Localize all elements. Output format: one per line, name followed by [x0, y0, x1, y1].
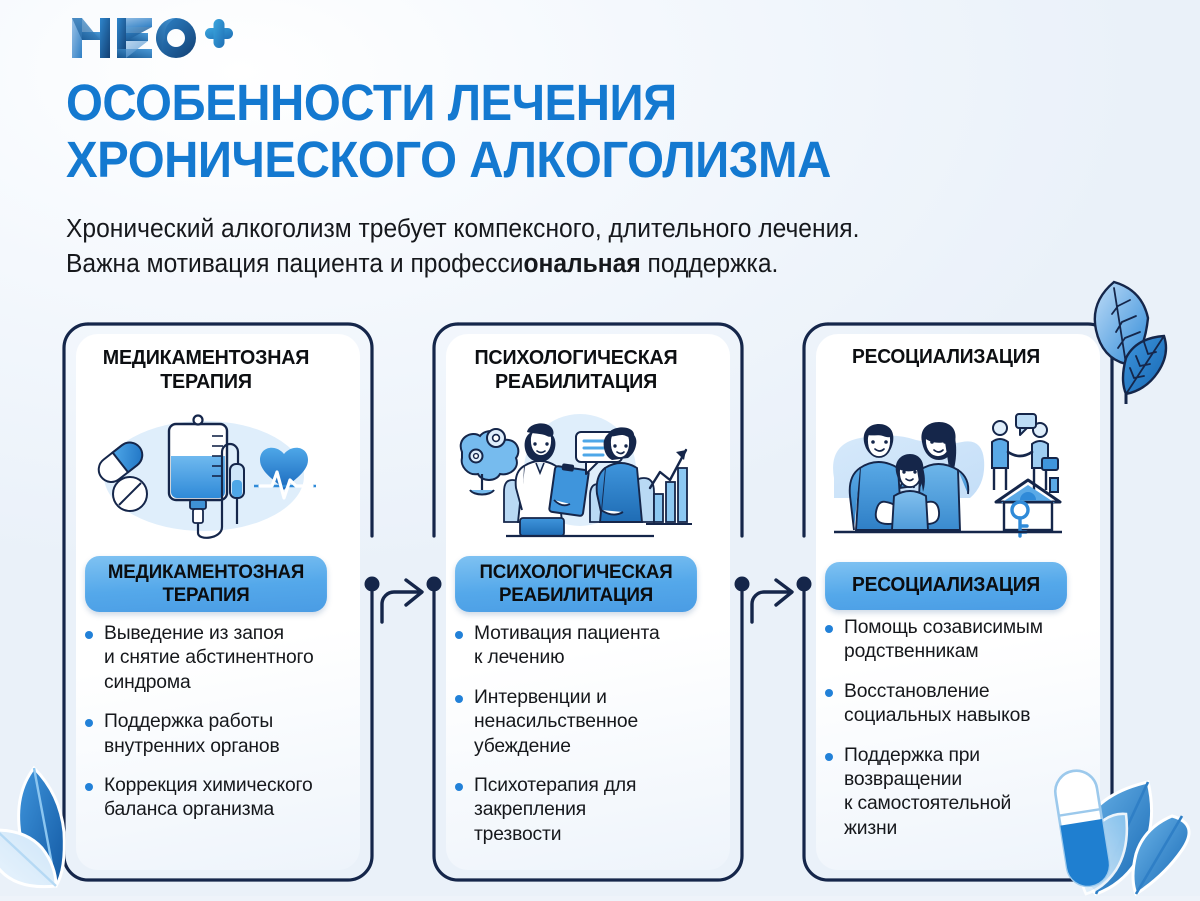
- page-title: ОСОБЕННОСТИ ЛЕЧЕНИЯ ХРОНИЧЕСКОГО АЛКОГОЛ…: [66, 74, 1080, 188]
- card-bullets-1: Выведение из запоя и снятие абстинентног…: [84, 622, 334, 823]
- bullet-text: Выведение из запоя и снятие абстинентног…: [104, 622, 334, 695]
- bullet-text: Коррекция химического баланса организма: [104, 774, 334, 823]
- list-item: Помощь созависимым родственникам: [824, 616, 1074, 665]
- page-subtitle: Хронический алкоголизм требует компексно…: [66, 212, 1099, 282]
- card-bullets-2: Мотивация пациента к лечению Интервенции…: [454, 622, 704, 847]
- bullet-text: Поддержка работы внутренних органов: [104, 710, 334, 759]
- card-badge-3[interactable]: РЕСОЦИАЛИЗАЦИЯ: [825, 562, 1067, 610]
- subtitle-line-1: Хронический алкоголизм требует компексно…: [66, 215, 859, 243]
- list-item: Интервенции и ненасильственное убеждение: [454, 686, 704, 759]
- infographic-canvas: ОСОБЕННОСТИ ЛЕЧЕНИЯ ХРОНИЧЕСКОГО АЛКОГОЛ…: [0, 0, 1200, 896]
- list-item: Поддержка работы внутренних органов: [84, 710, 334, 759]
- card-heading-1: МЕДИКАМЕНТОЗНАЯ ТЕРАПИЯ: [87, 346, 325, 394]
- card-badge-1[interactable]: МЕДИКАМЕНТОЗНАЯ ТЕРАПИЯ: [85, 556, 327, 612]
- subtitle-line-2-emphasis: ональная: [523, 250, 640, 278]
- list-item: Поддержка при возвращении к самостоятель…: [824, 744, 1074, 842]
- bullet-text: Интервенции и ненасильственное убеждение: [474, 686, 704, 759]
- list-item: Восстановление социальных навыков: [824, 680, 1074, 729]
- therapy-session-brain-chart-icon: [448, 406, 700, 546]
- card-bullets-3: Помощь созависимым родственникам Восстан…: [824, 616, 1074, 841]
- list-item: Психотерапия для закрепления трезвости: [454, 774, 704, 847]
- bullet-text: Мотивация пациента к лечению: [474, 622, 704, 671]
- family-handshake-house-key-icon: [818, 406, 1070, 546]
- bullet-text: Помощь созависимым родственникам: [844, 616, 1074, 665]
- card-heading-3: РЕСОЦИАЛИЗАЦИЯ: [827, 346, 1065, 370]
- card-resocialization[interactable]: РЕСОЦИАЛИЗАЦИЯ: [802, 322, 1114, 882]
- card-psychological-rehabilitation[interactable]: ПСИХОЛОГИЧЕСКАЯ РЕАБИЛИТАЦИЯ: [432, 322, 744, 882]
- subtitle-line-2-suffix: поддержка.: [641, 250, 779, 278]
- bullet-text: Восстановление социальных навыков: [844, 680, 1074, 729]
- list-item: Мотивация пациента к лечению: [454, 622, 704, 671]
- card-heading-2: ПСИХОЛОГИЧЕСКАЯ РЕАБИЛИТАЦИЯ: [457, 346, 695, 394]
- arrow-card1-to-card2: [378, 556, 430, 626]
- bullet-text: Поддержка при возвращении к самостоятель…: [844, 744, 1074, 842]
- subtitle-line-2-prefix: Важна мотивация пациента и професси: [66, 250, 523, 278]
- list-item: Коррекция химического баланса организма: [84, 774, 334, 823]
- card-medication-therapy[interactable]: МЕДИКАМЕНТОЗНАЯ ТЕРАПИЯ: [62, 322, 374, 882]
- list-item: Выведение из запоя и снятие абстинентног…: [84, 622, 334, 695]
- iv-drip-pills-heart-icon: [78, 406, 330, 546]
- bullet-text: Психотерапия для закрепления трезвости: [474, 774, 704, 847]
- arrow-card2-to-card3: [748, 556, 800, 626]
- card-badge-2[interactable]: ПСИХОЛОГИЧЕСКАЯ РЕАБИЛИТАЦИЯ: [455, 556, 697, 612]
- neo-plus-logo: [68, 14, 238, 62]
